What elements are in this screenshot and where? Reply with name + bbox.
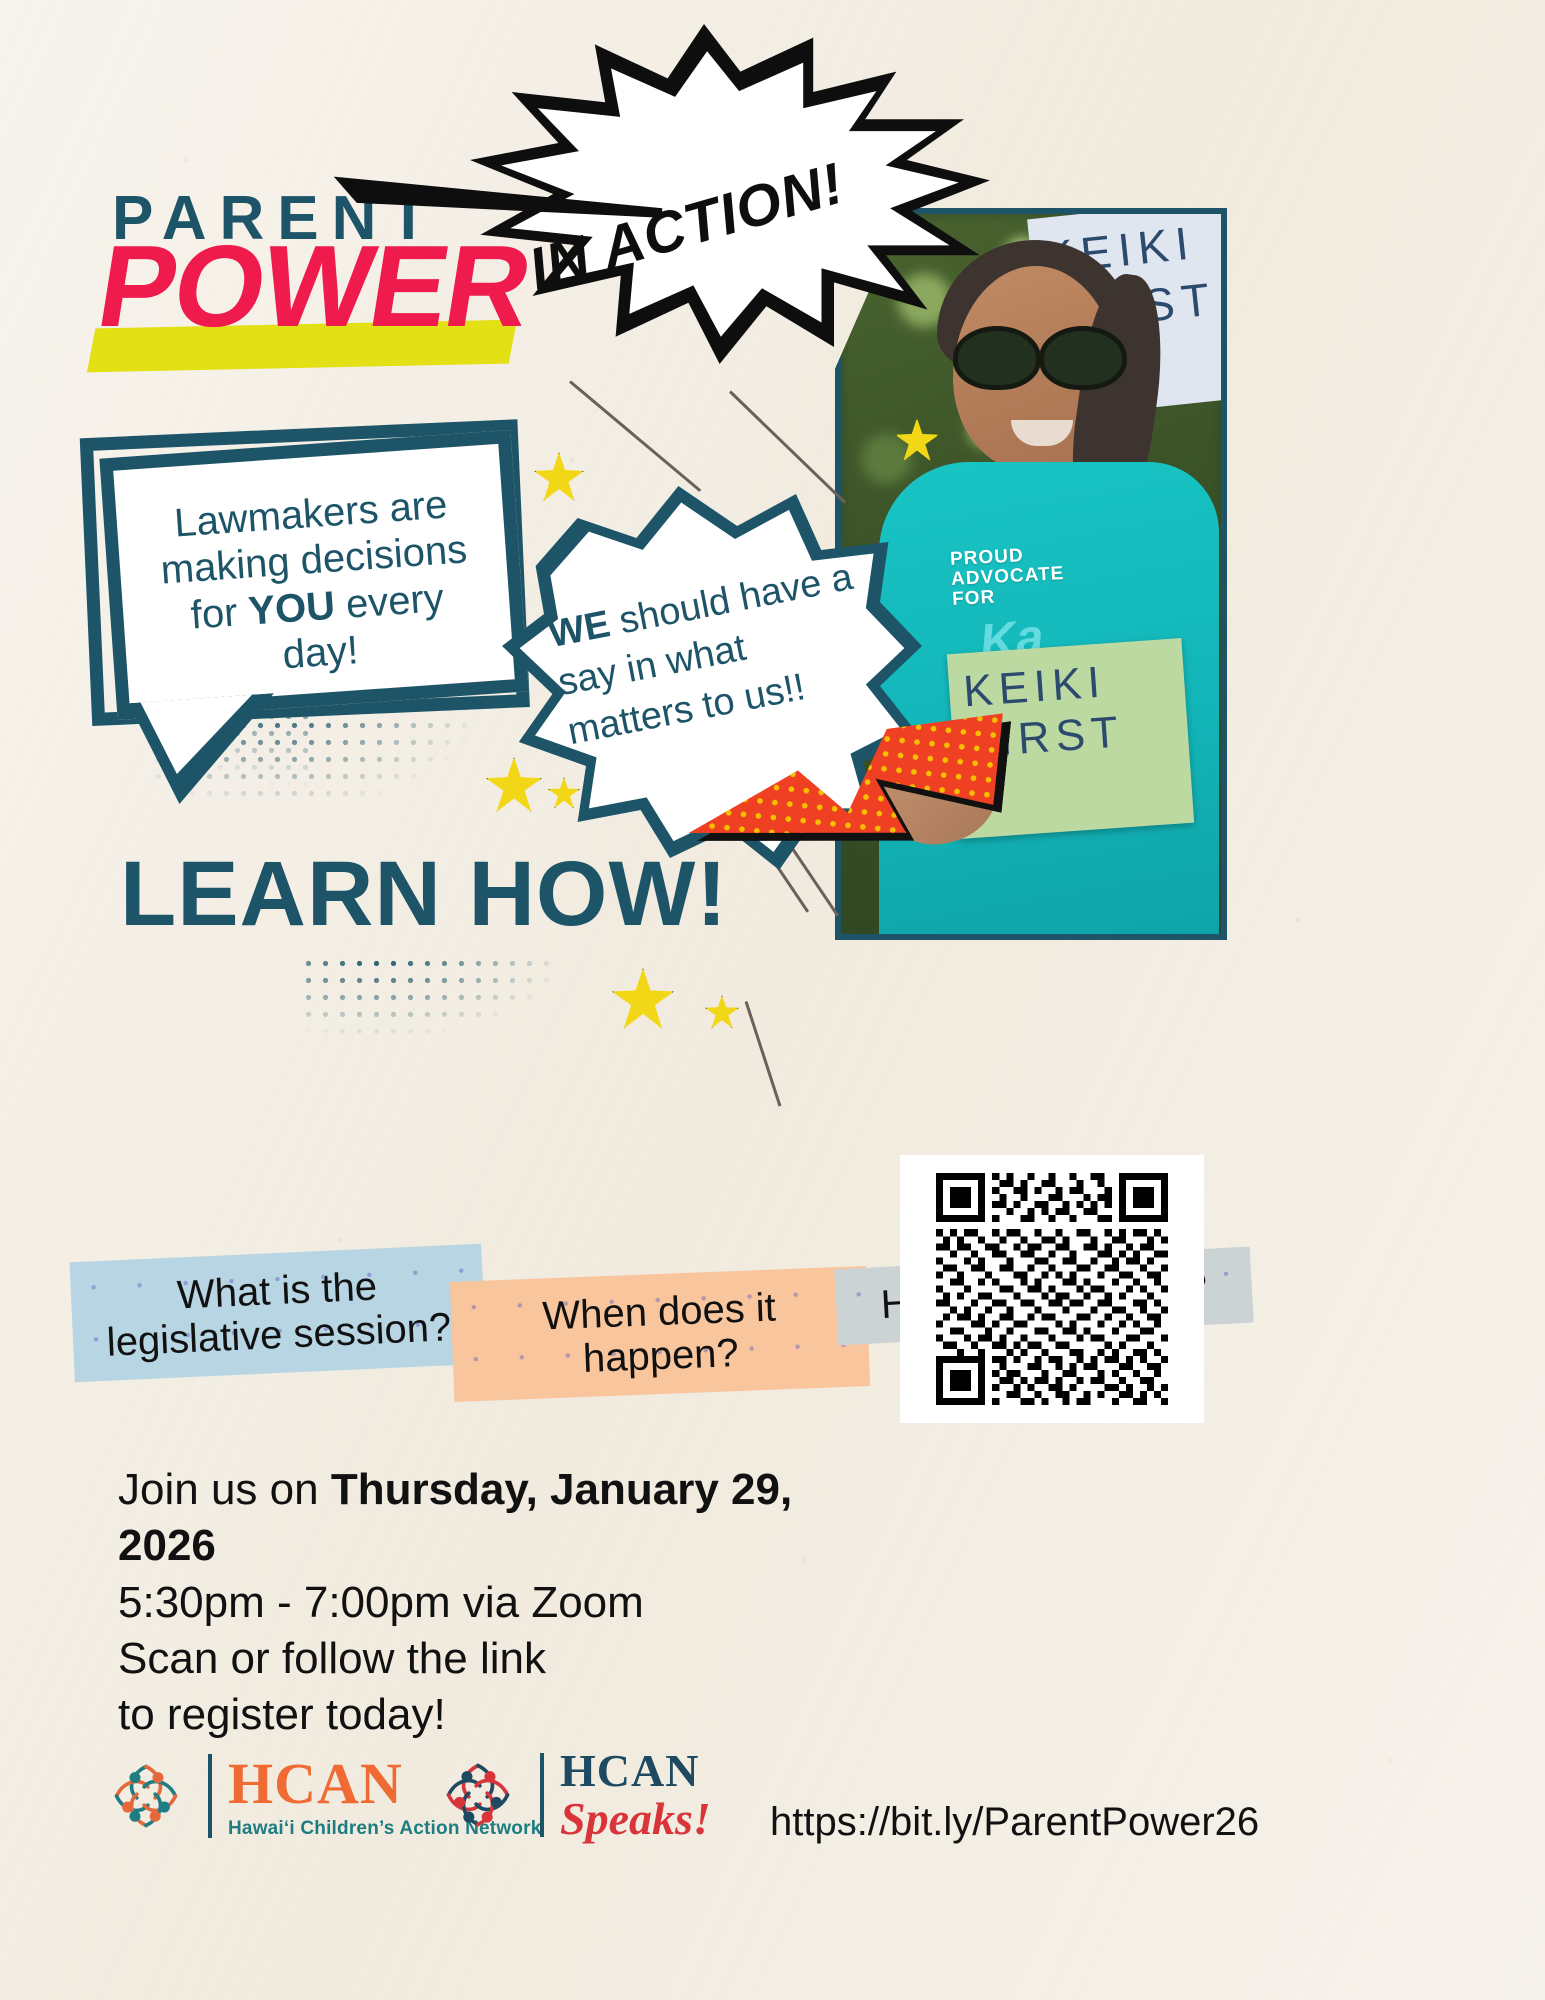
speech-bubble-lawmakers: Lawmakers are making decisions for YOU e… bbox=[99, 430, 528, 720]
logo-divider bbox=[208, 1754, 212, 1838]
bubble-lawmakers-text: Lawmakers are making decisions for YOU e… bbox=[113, 444, 513, 690]
event-details-line-2: 5:30pm - 7:00pm via Zoom bbox=[118, 1575, 818, 1631]
shirt-slogan: PROUD ADVOCATE FOR bbox=[950, 538, 1183, 610]
bubble-body: Lawmakers are making decisions for YOU e… bbox=[99, 430, 528, 720]
learn-how-heading: LEARN HOW! bbox=[120, 842, 728, 947]
halftone-cluster-learn bbox=[300, 955, 560, 1035]
pointing-arrow-icon bbox=[689, 690, 1011, 950]
question-band-what-is-legislative-session: What is the legislative session? bbox=[69, 1244, 486, 1383]
qr-code-panel[interactable] bbox=[900, 1155, 1204, 1423]
event-details-line-4: to register today! bbox=[118, 1687, 818, 1743]
hcan-speaks-script: Speaks! bbox=[560, 1796, 711, 1842]
poster-canvas: PARENT POWER KEIKI FIRST Ka PROUD ADVOCA… bbox=[0, 0, 1545, 2000]
star-icon-above-learn-big bbox=[612, 968, 674, 1030]
hcan-people-mark-icon bbox=[100, 1750, 192, 1842]
hcan-speaks-people-mark-icon bbox=[432, 1749, 524, 1841]
event-details-line-1: Join us on Thursday, January 29, 2026 bbox=[118, 1462, 818, 1575]
registration-url[interactable]: https://bit.ly/ParentPower26 bbox=[770, 1800, 1259, 1845]
star-icon-above-learn-small bbox=[705, 995, 739, 1029]
event-details-line-3: Scan or follow the link bbox=[118, 1631, 818, 1687]
qr-code-icon[interactable] bbox=[918, 1173, 1186, 1405]
question-band-when-does-it-happen: When does it happen? bbox=[450, 1266, 870, 1402]
hcan-speaks-wordmark: HCAN bbox=[560, 1748, 711, 1794]
page-title-power-wrapper: POWER bbox=[100, 228, 528, 344]
event-details: Join us on Thursday, January 29, 2026 5:… bbox=[118, 1462, 818, 1744]
in-action-starburst: IN ACTION! bbox=[470, 24, 990, 364]
logo-hcan-speaks: HCAN Speaks! bbox=[432, 1748, 711, 1842]
logo-divider-speaks bbox=[540, 1753, 544, 1837]
